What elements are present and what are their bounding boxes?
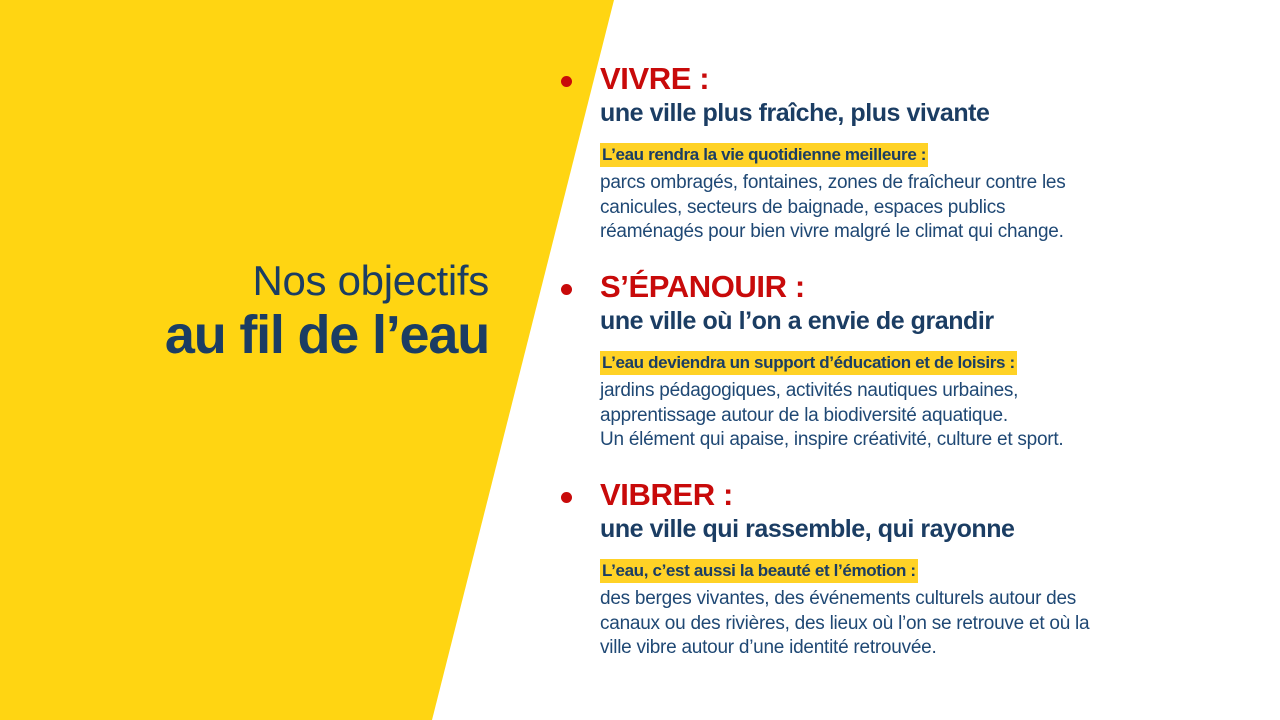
title-line-primary: Nos objectifs	[0, 258, 489, 303]
bullet-dot-icon	[561, 284, 572, 295]
objective-lead-highlight: L’eau, c’est aussi la beauté et l’émotio…	[600, 559, 918, 583]
objective-subheading: une ville où l’on a envie de grandir	[600, 306, 1206, 337]
objective-item-vivre: VIVRE : une ville plus fraîche, plus viv…	[556, 60, 1206, 245]
objective-subheading: une ville plus fraîche, plus vivante	[600, 98, 1206, 129]
objective-body-text: des berges vivantes, des événements cult…	[600, 587, 1206, 661]
bullet-dot-icon	[561, 76, 572, 87]
objective-lead-highlight: L’eau deviendra un support d’éducation e…	[600, 351, 1017, 375]
objective-lead-row: L’eau, c’est aussi la beauté et l’émotio…	[600, 559, 1206, 583]
page-title: Nos objectifs au fil de l’eau	[0, 258, 489, 366]
objective-heading: VIBRER :	[600, 476, 1206, 514]
objective-body-text: parcs ombragés, fontaines, zones de fraî…	[600, 171, 1206, 245]
objective-heading: S’ÉPANOUIR :	[600, 268, 1206, 306]
objective-item-vibrer: VIBRER : une ville qui rassemble, qui ra…	[556, 476, 1206, 661]
objective-lead-highlight: L’eau rendra la vie quotidienne meilleur…	[600, 143, 928, 167]
objective-lead-row: L’eau rendra la vie quotidienne meilleur…	[600, 143, 1206, 167]
objective-heading: VIVRE :	[600, 60, 1206, 98]
objective-body-text: jardins pédagogiques, activités nautique…	[600, 379, 1206, 453]
objective-lead-row: L’eau deviendra un support d’éducation e…	[600, 351, 1206, 375]
objectives-list: VIVRE : une ville plus fraîche, plus viv…	[556, 60, 1206, 661]
bullet-dot-icon	[561, 492, 572, 503]
objective-item-sepanouir: S’ÉPANOUIR : une ville où l’on a envie d…	[556, 268, 1206, 453]
objective-subheading: une ville qui rassemble, qui rayonne	[600, 514, 1206, 545]
title-line-emphasis: au fil de l’eau	[0, 305, 489, 365]
slide-canvas: Nos objectifs au fil de l’eau VIVRE : un…	[0, 0, 1280, 720]
